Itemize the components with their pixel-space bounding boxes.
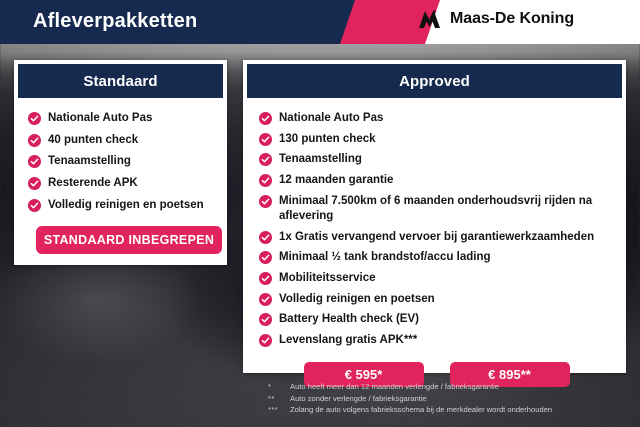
list-item: Minimaal ½ tank brandstof/accu lading xyxy=(259,250,614,265)
feature-label: Minimaal 7.500km of 6 maanden onderhouds… xyxy=(279,194,614,224)
footnotes: * Auto heeft meer dan 12 maanden verleng… xyxy=(268,381,628,416)
standaard-inbegrepen-button[interactable]: STANDAARD INBEGREPEN xyxy=(36,226,222,254)
feature-label: Nationale Auto Pas xyxy=(279,111,383,126)
check-circle-icon xyxy=(259,334,272,347)
list-item: 40 punten check xyxy=(28,133,215,148)
check-circle-icon xyxy=(259,174,272,187)
footnote-marker: ** xyxy=(268,393,290,405)
check-circle-icon xyxy=(259,195,272,208)
feature-label: Mobiliteitsservice xyxy=(279,271,376,286)
maas-de-koning-m-logo-icon xyxy=(418,9,441,29)
list-item: Tenaamstelling xyxy=(259,152,614,167)
check-circle-icon xyxy=(259,153,272,166)
feature-label: Volledig reinigen en poetsen xyxy=(48,198,204,213)
list-item: 130 punten check xyxy=(259,132,614,147)
feature-label: Volledig reinigen en poetsen xyxy=(279,292,435,307)
feature-label: Battery Health check (EV) xyxy=(279,312,419,327)
card-title-standaard: Standaard xyxy=(83,73,157,90)
list-item: Tenaamstelling xyxy=(28,154,215,169)
afleverpakketten-page: Afleverpakketten Maas-De Koning Standaar… xyxy=(0,0,640,427)
footnote-marker: * xyxy=(268,381,290,393)
feature-label: 40 punten check xyxy=(48,133,138,148)
feature-label: 130 punten check xyxy=(279,132,376,147)
check-circle-icon xyxy=(259,133,272,146)
check-circle-icon xyxy=(259,293,272,306)
brand-logo: Maas-De Koning xyxy=(418,9,574,29)
check-circle-icon xyxy=(259,313,272,326)
footnote-text: Auto heeft meer dan 12 maanden verlengde… xyxy=(290,381,499,393)
footnote-double-asterisk: ** Auto zonder verlengde / fabrieksgaran… xyxy=(268,393,628,405)
footnote-triple-asterisk: *** Zolang de auto volgens fabrieksschem… xyxy=(268,404,628,416)
check-circle-icon xyxy=(28,134,41,147)
brand-name: Maas-De Koning xyxy=(450,10,574,28)
list-item: Volledig reinigen en poetsen xyxy=(28,198,215,213)
feature-label: Levenslang gratis APK*** xyxy=(279,333,417,348)
page-title: Afleverpakketten xyxy=(33,10,197,33)
card-header-approved: Approved xyxy=(247,64,622,98)
list-item: 1x Gratis vervangend vervoer bij garanti… xyxy=(259,230,614,245)
check-circle-icon xyxy=(259,272,272,285)
footnote-text: Zolang de auto volgens fabrieksschema bi… xyxy=(290,404,552,416)
feature-label: Tenaamstelling xyxy=(48,154,131,169)
feature-list-approved: Nationale Auto Pas 130 punten check Tena… xyxy=(259,111,614,348)
card-body-approved: Nationale Auto Pas 130 punten check Tena… xyxy=(243,98,626,401)
card-header-standaard: Standaard xyxy=(18,64,223,98)
check-circle-icon xyxy=(28,199,41,212)
footnote-text: Auto zonder verlengde / fabrieksgarantie xyxy=(290,393,427,405)
feature-label: 1x Gratis vervangend vervoer bij garanti… xyxy=(279,230,594,245)
feature-label: Resterende APK xyxy=(48,176,138,191)
feature-list-standaard: Nationale Auto Pas 40 punten check Tenaa… xyxy=(28,111,215,213)
feature-label: Tenaamstelling xyxy=(279,152,362,167)
check-circle-icon xyxy=(259,231,272,244)
list-item: Levenslang gratis APK*** xyxy=(259,333,614,348)
list-item: 12 maanden garantie xyxy=(259,173,614,188)
check-circle-icon xyxy=(28,155,41,168)
footnote-marker: *** xyxy=(268,404,290,416)
footnote-single-asterisk: * Auto heeft meer dan 12 maanden verleng… xyxy=(268,381,628,393)
package-card-approved: Approved Nationale Auto Pas 130 punten c… xyxy=(243,60,626,373)
package-card-standaard: Standaard Nationale Auto Pas 40 punten c… xyxy=(14,60,227,265)
feature-label: 12 maanden garantie xyxy=(279,173,393,188)
check-circle-icon xyxy=(28,112,41,125)
page-header: Afleverpakketten Maas-De Koning xyxy=(0,0,640,44)
list-item: Mobiliteitsservice xyxy=(259,271,614,286)
list-item: Battery Health check (EV) xyxy=(259,312,614,327)
check-circle-icon xyxy=(28,177,41,190)
list-item: Nationale Auto Pas xyxy=(28,111,215,126)
list-item: Resterende APK xyxy=(28,176,215,191)
feature-label: Minimaal ½ tank brandstof/accu lading xyxy=(279,250,491,265)
card-title-approved: Approved xyxy=(399,73,470,90)
list-item: Volledig reinigen en poetsen xyxy=(259,292,614,307)
feature-label: Nationale Auto Pas xyxy=(48,111,152,126)
check-circle-icon xyxy=(259,251,272,264)
card-body-standaard: Nationale Auto Pas 40 punten check Tenaa… xyxy=(14,98,227,264)
check-circle-icon xyxy=(259,112,272,125)
list-item: Nationale Auto Pas xyxy=(259,111,614,126)
list-item: Minimaal 7.500km of 6 maanden onderhouds… xyxy=(259,194,614,224)
